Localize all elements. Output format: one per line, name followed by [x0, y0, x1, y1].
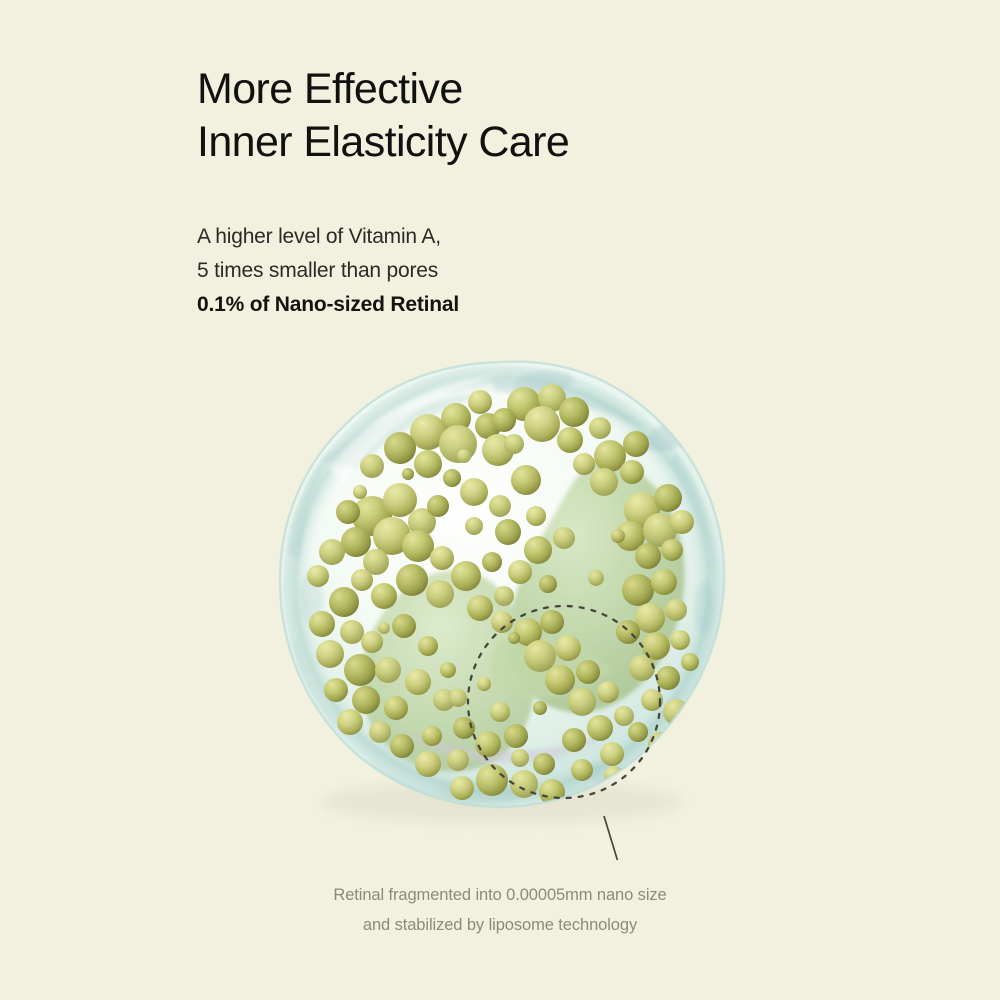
headline-line-2: Inner Elasticity Care — [197, 116, 897, 169]
caption-line-2: and stabilized by liposome technology — [0, 910, 1000, 940]
subheading: A higher level of Vitamin A, 5 times sma… — [197, 169, 897, 322]
text-block: More Effective Inner Elasticity Care A h… — [197, 63, 897, 322]
subhead-line-3-bold: 0.1% of Nano-sized Retinal — [197, 288, 897, 322]
caption-line-1: Retinal fragmented into 0.00005mm nano s… — [0, 880, 1000, 910]
headline-line-1: More Effective — [197, 63, 897, 116]
poster-page: More Effective Inner Elasticity Care A h… — [0, 0, 1000, 1000]
subhead-line-1: A higher level of Vitamin A, — [197, 220, 897, 254]
page-title: More Effective Inner Elasticity Care — [197, 63, 897, 169]
subhead-line-2: 5 times smaller than pores — [197, 254, 897, 288]
callout-leader-line — [604, 816, 618, 860]
liposome-illustration — [252, 340, 752, 860]
illustration-caption: Retinal fragmented into 0.00005mm nano s… — [0, 880, 1000, 940]
